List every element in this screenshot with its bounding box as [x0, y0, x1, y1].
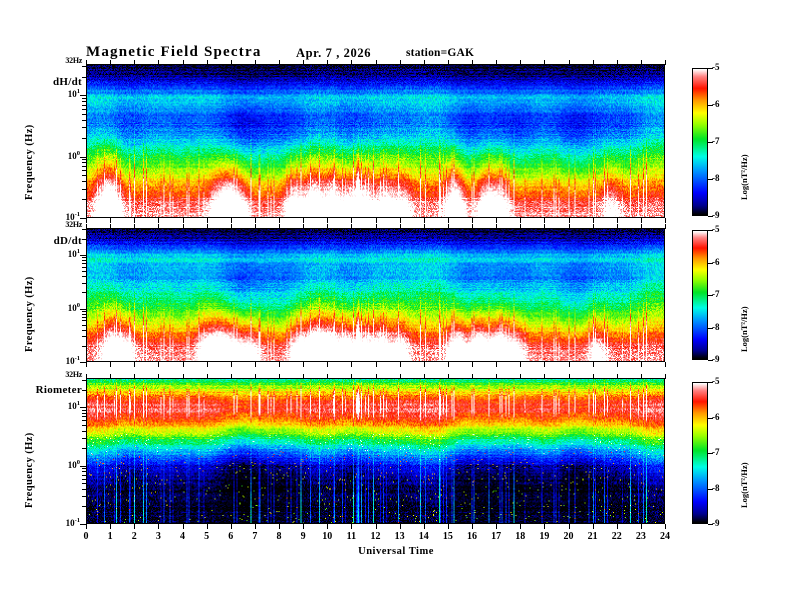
y-tickmark-minor — [82, 138, 86, 139]
panel-riometer — [86, 378, 665, 524]
x-tick-23: 23 — [629, 531, 653, 542]
x-tickmark-top — [279, 374, 280, 379]
y-tickmark-major — [80, 309, 86, 310]
x-tickmark-top — [376, 60, 377, 65]
x-tickmark — [207, 524, 208, 529]
colorbar-tickmark — [708, 142, 713, 143]
x-tickmark-top — [183, 224, 184, 229]
y-tickmark-minor — [82, 105, 86, 106]
colorbar-tickmark — [708, 524, 713, 525]
page-title: Magnetic Field Spectra — [86, 44, 262, 61]
x-tickmark — [472, 362, 473, 367]
x-tickmark — [279, 362, 280, 367]
x-tickmark — [617, 362, 618, 367]
x-tick-2: 2 — [122, 531, 146, 542]
x-tick-5: 5 — [195, 531, 219, 542]
x-tickmark-top — [327, 374, 328, 379]
colorbar-panel1 — [692, 68, 708, 216]
y-tick-panel2-1e-1: 10-1 — [46, 355, 80, 366]
y-tickmark-minor — [82, 267, 86, 268]
colorbar-tick-2-neg8: -8 — [712, 483, 720, 493]
y-tickmark-minor — [82, 325, 86, 326]
colorbar-tick-0-neg6: -6 — [712, 99, 720, 109]
x-tickmark — [255, 218, 256, 223]
x-tick-11: 11 — [339, 531, 363, 542]
figure-root: Magnetic Field Spectra Apr. 7 , 2026 sta… — [0, 0, 792, 612]
x-tickmark-top — [303, 60, 304, 65]
y-tickmark-minor — [82, 276, 86, 277]
colorbar-tickmark — [708, 68, 713, 69]
x-tickmark — [617, 524, 618, 529]
y-tickmark-minor — [82, 159, 86, 160]
x-tickmark — [158, 362, 159, 367]
x-tickmark-top — [183, 60, 184, 65]
y-tickmark-minor — [82, 162, 86, 163]
x-tickmark-top — [400, 224, 401, 229]
y-tick-panel3-1e-1: 10-1 — [46, 517, 80, 528]
colorbar-tickmark — [708, 179, 713, 180]
colorbar-tick-1-neg8: -8 — [712, 322, 720, 332]
panel-dddt — [86, 228, 665, 362]
x-tickmark-top — [86, 374, 87, 379]
x-tickmark-top — [617, 374, 618, 379]
x-tickmark — [327, 524, 328, 529]
x-tickmark — [641, 218, 642, 223]
y-tickmark-minor — [82, 483, 86, 484]
colorbar-tickmark — [708, 263, 713, 264]
x-tick-12: 12 — [364, 531, 388, 542]
x-tickmark — [279, 218, 280, 223]
x-tickmark — [376, 218, 377, 223]
x-tickmark-top — [255, 374, 256, 379]
x-tick-24: 24 — [653, 531, 677, 542]
panel-label-riometer: Riometer — [24, 384, 82, 396]
x-tickmark — [544, 218, 545, 223]
x-tickmark-top — [544, 374, 545, 379]
y-tickmark-minor — [82, 260, 86, 261]
x-tick-4: 4 — [171, 531, 195, 542]
colorbar-tickmark — [708, 489, 713, 490]
x-tickmark-top — [424, 60, 425, 65]
colorbar-tickmark — [708, 382, 713, 383]
x-tickmark — [207, 218, 208, 223]
x-tickmark-top — [231, 374, 232, 379]
x-tickmark-top — [400, 60, 401, 65]
x-tickmark-top — [472, 374, 473, 379]
x-tickmark-top — [134, 224, 135, 229]
y-tickmark-minor — [82, 311, 86, 312]
x-tickmark — [593, 524, 594, 529]
y-tickmark-minor — [82, 330, 86, 331]
spectrogram-dddt — [87, 229, 664, 361]
y-tickmark-minor — [82, 320, 86, 321]
y-tickmark-minor — [82, 448, 86, 449]
x-tick-21: 21 — [581, 531, 605, 542]
x-tickmark — [255, 362, 256, 367]
x-tickmark-top — [231, 60, 232, 65]
x-tickmark-top — [400, 374, 401, 379]
x-tickmark-top — [520, 60, 521, 65]
x-tickmark-top — [255, 60, 256, 65]
x-tickmark — [448, 218, 449, 223]
y-tick-panel3-1e0: 100 — [46, 459, 80, 470]
x-tickmark-top — [593, 60, 594, 65]
colorbar-tick-2-neg9: -9 — [712, 518, 720, 528]
x-tickmark — [496, 524, 497, 529]
x-tickmark-top — [496, 374, 497, 379]
x-tickmark — [110, 218, 111, 223]
panel-label-dddt: dD/dt — [36, 235, 82, 247]
x-tick-14: 14 — [412, 531, 436, 542]
x-tickmark-top — [158, 224, 159, 229]
x-tickmark — [327, 362, 328, 367]
y-tickmark-minor — [82, 479, 86, 480]
x-tickmark-top — [279, 224, 280, 229]
nyquist-label-panel1: 32Hz — [46, 56, 82, 65]
colorbar-tick-2-neg7: -7 — [712, 447, 720, 457]
x-tickmark-top — [351, 60, 352, 65]
x-tickmark-top — [183, 374, 184, 379]
y-tick-panel2-1e1: 101 — [46, 248, 80, 259]
y-tickmark-minor — [82, 101, 86, 102]
y-tickmark-minor — [82, 271, 86, 272]
spectrogram-riometer — [87, 379, 664, 523]
colorbar-tick-0-neg8: -8 — [712, 173, 720, 183]
colorbar-tick-0-neg5: -5 — [712, 62, 720, 72]
x-tickmark-top — [641, 60, 642, 65]
x-tick-16: 16 — [460, 531, 484, 542]
x-tickmark-top — [255, 224, 256, 229]
y-tickmark-minor — [82, 438, 86, 439]
y-tickmark-minor — [82, 496, 86, 497]
y-tickmark-minor — [82, 475, 86, 476]
colorbar-label-panel3: Log(nT²/Hz) — [739, 462, 749, 508]
x-tickmark — [134, 218, 135, 223]
x-tickmark-top — [520, 374, 521, 379]
y-tickmark-major — [80, 95, 86, 96]
x-tickmark-top — [134, 60, 135, 65]
x-tickmark-top — [110, 224, 111, 229]
x-tickmark — [520, 362, 521, 367]
x-tick-3: 3 — [146, 531, 170, 542]
x-tickmark-top — [158, 374, 159, 379]
y-tickmark-minor — [82, 66, 86, 67]
y-tickmark-minor — [82, 489, 86, 490]
x-tickmark — [110, 524, 111, 529]
y-tickmark-minor — [82, 317, 86, 318]
y-tickmark-major — [80, 466, 86, 467]
x-tickmark — [231, 362, 232, 367]
y-tickmark-minor — [82, 77, 86, 78]
x-tickmark — [255, 524, 256, 529]
x-tick-9: 9 — [291, 531, 315, 542]
colorbar-tickmark — [708, 453, 713, 454]
x-tickmark — [593, 362, 594, 367]
x-tickmark-top — [327, 60, 328, 65]
y-tickmark-minor — [82, 263, 86, 264]
y-tickmark-major — [80, 407, 86, 408]
y-tickmark-major — [80, 157, 86, 158]
colorbar-tick-2-neg5: -5 — [712, 376, 720, 386]
colorbar-label-panel3-bar — [692, 382, 708, 524]
colorbar-label-panel1: Log(nT²/Hz) — [739, 154, 749, 200]
observation-date: Apr. 7 , 2026 — [296, 46, 371, 61]
panel-label-dhdt: dH/dt — [36, 76, 82, 88]
x-tickmark — [134, 524, 135, 529]
x-tickmark-top — [424, 374, 425, 379]
x-tickmark — [617, 218, 618, 223]
x-tickmark-top — [448, 374, 449, 379]
y-tickmark-minor — [82, 416, 86, 417]
x-tickmark-top — [303, 224, 304, 229]
x-tickmark-top — [569, 224, 570, 229]
x-tick-0: 0 — [74, 531, 98, 542]
x-tickmark-top — [520, 224, 521, 229]
y-tickmark-minor — [82, 229, 86, 230]
nyquist-label-panel3: 32Hz — [46, 370, 82, 379]
x-tickmark — [665, 524, 666, 529]
x-tickmark — [231, 218, 232, 223]
colorbar-tick-1-neg6: -6 — [712, 257, 720, 267]
panel-dhdt — [86, 64, 665, 218]
x-tickmark — [351, 218, 352, 223]
x-tickmark — [496, 362, 497, 367]
x-tickmark — [279, 524, 280, 529]
y-tickmark-minor — [82, 431, 86, 432]
y-tickmark-major — [80, 255, 86, 256]
x-tickmark-top — [303, 374, 304, 379]
colorbar-tickmark — [708, 418, 713, 419]
x-tickmark-top — [86, 60, 87, 65]
x-tickmark-top — [641, 374, 642, 379]
x-tickmark-top — [544, 224, 545, 229]
x-tickmark-top — [351, 224, 352, 229]
y-tickmark-minor — [82, 127, 86, 128]
y-tickmark-minor — [82, 199, 86, 200]
y-tickmark-minor — [82, 257, 86, 258]
x-tickmark — [472, 218, 473, 223]
x-tickmark-top — [665, 374, 666, 379]
colorbar-tick-2-neg6: -6 — [712, 412, 720, 422]
x-tickmark — [183, 524, 184, 529]
x-tickmark-top — [376, 374, 377, 379]
x-tickmark-top — [279, 60, 280, 65]
y-tickmark-minor — [82, 189, 86, 190]
y-tickmark-minor — [82, 468, 86, 469]
x-tickmark — [134, 362, 135, 367]
x-tickmark-top — [496, 60, 497, 65]
colorbar-tickmark — [708, 230, 713, 231]
colorbar-tickmark — [708, 216, 713, 217]
x-tickmark — [424, 218, 425, 223]
x-tickmark-top — [448, 60, 449, 65]
y-tickmark-minor — [82, 98, 86, 99]
x-tickmark-top — [327, 224, 328, 229]
x-tick-1: 1 — [98, 531, 122, 542]
x-tickmark — [376, 524, 377, 529]
x-tick-17: 17 — [484, 531, 508, 542]
colorbar-tick-1-neg9: -9 — [712, 354, 720, 364]
x-tick-22: 22 — [605, 531, 629, 542]
x-tickmark — [86, 218, 87, 223]
x-tickmark — [520, 524, 521, 529]
y-tickmark-minor — [82, 346, 86, 347]
x-tickmark — [183, 362, 184, 367]
colorbar-tickmark — [708, 295, 713, 296]
x-tickmark-top — [86, 224, 87, 229]
y-tickmark-minor — [82, 413, 86, 414]
y-tick-panel1-1e-1: 10-1 — [46, 211, 80, 222]
x-tickmark — [303, 524, 304, 529]
x-tickmark — [424, 524, 425, 529]
x-tickmark-top — [231, 224, 232, 229]
x-tickmark — [544, 524, 545, 529]
x-tickmark-top — [472, 224, 473, 229]
colorbar-label-panel2: Log(nT²/Hz) — [739, 306, 749, 352]
x-tickmark — [231, 524, 232, 529]
x-tickmark — [520, 218, 521, 223]
y-tick-panel1-1e1: 101 — [46, 88, 80, 99]
y-tick-panel1-1e0: 100 — [46, 150, 80, 161]
x-tickmark-top — [617, 60, 618, 65]
y-axis-label-panel3: Frequency (Hz) — [24, 432, 35, 508]
x-tickmark — [158, 524, 159, 529]
x-tick-13: 13 — [388, 531, 412, 542]
x-tickmark — [303, 362, 304, 367]
y-tickmark-minor — [82, 170, 86, 171]
x-tickmark-top — [424, 224, 425, 229]
x-tickmark — [376, 362, 377, 367]
x-axis-label: Universal Time — [0, 546, 792, 557]
x-tickmark-top — [665, 224, 666, 229]
colorbar-tick-0-neg9: -9 — [712, 210, 720, 220]
x-tickmark — [183, 218, 184, 223]
x-tick-18: 18 — [508, 531, 532, 542]
y-tickmark-minor — [82, 175, 86, 176]
x-tickmark-top — [569, 60, 570, 65]
x-tickmark — [351, 524, 352, 529]
x-tickmark — [303, 218, 304, 223]
y-tickmark-minor — [82, 390, 86, 391]
x-tickmark — [665, 218, 666, 223]
x-tickmark-top — [472, 60, 473, 65]
y-tickmark-minor — [82, 181, 86, 182]
y-tickmark-minor — [82, 506, 86, 507]
y-tickmark-minor — [82, 166, 86, 167]
y-tickmark-minor — [82, 239, 86, 240]
x-tick-20: 20 — [557, 531, 581, 542]
x-tickmark — [400, 524, 401, 529]
x-tickmark-top — [110, 374, 111, 379]
y-tickmark-minor — [82, 425, 86, 426]
colorbar-tick-1-neg7: -7 — [712, 289, 720, 299]
colorbar-tickmark — [708, 360, 713, 361]
y-tick-panel3-1e1: 101 — [46, 400, 80, 411]
x-tickmark-top — [617, 224, 618, 229]
y-tickmark-minor — [82, 420, 86, 421]
x-tickmark — [569, 524, 570, 529]
x-tickmark-top — [593, 224, 594, 229]
y-tickmark-minor — [82, 120, 86, 121]
x-tickmark — [593, 218, 594, 223]
x-tickmark — [158, 218, 159, 223]
y-tickmark-minor — [82, 292, 86, 293]
x-tick-7: 7 — [243, 531, 267, 542]
x-tick-6: 6 — [219, 531, 243, 542]
x-tickmark-top — [665, 60, 666, 65]
x-tickmark-top — [593, 374, 594, 379]
x-tickmark-top — [569, 374, 570, 379]
x-tickmark — [86, 362, 87, 367]
x-tickmark — [400, 218, 401, 223]
x-tickmark-top — [110, 60, 111, 65]
x-tick-8: 8 — [267, 531, 291, 542]
y-tickmark-minor — [82, 114, 86, 115]
spectrogram-dhdt — [87, 65, 664, 217]
y-tickmark-minor — [82, 471, 86, 472]
y-axis-label-panel1: Frequency (Hz) — [24, 124, 35, 200]
x-tickmark-top — [134, 374, 135, 379]
x-tickmark — [641, 524, 642, 529]
colorbar-tick-1-neg5: -5 — [712, 224, 720, 234]
x-tickmark — [351, 362, 352, 367]
x-tickmark-top — [544, 60, 545, 65]
x-tickmark — [544, 362, 545, 367]
x-tick-19: 19 — [532, 531, 556, 542]
x-tickmark — [327, 218, 328, 223]
x-tickmark — [472, 524, 473, 529]
x-tick-10: 10 — [315, 531, 339, 542]
x-tickmark — [400, 362, 401, 367]
x-tick-15: 15 — [436, 531, 460, 542]
x-tickmark — [207, 362, 208, 367]
y-tickmark-minor — [82, 283, 86, 284]
y-tickmark-minor — [82, 380, 86, 381]
y-tickmark-minor — [82, 336, 86, 337]
x-tickmark-top — [158, 60, 159, 65]
x-tickmark-top — [641, 224, 642, 229]
colorbar-tickmark — [708, 328, 713, 329]
x-tickmark-top — [207, 374, 208, 379]
colorbar-panel2 — [692, 230, 708, 360]
station-label: station=GAK — [406, 47, 474, 59]
x-tickmark-top — [496, 224, 497, 229]
x-tickmark — [110, 362, 111, 367]
y-tickmark-minor — [82, 314, 86, 315]
x-tickmark — [569, 218, 570, 223]
x-tickmark — [496, 218, 497, 223]
x-tickmark — [569, 362, 570, 367]
colorbar-tick-0-neg7: -7 — [712, 136, 720, 146]
x-tickmark — [448, 362, 449, 367]
x-tickmark — [424, 362, 425, 367]
x-tickmark — [641, 362, 642, 367]
y-tickmark-minor — [82, 410, 86, 411]
x-tickmark-top — [351, 374, 352, 379]
x-tickmark — [86, 524, 87, 529]
y-axis-label-panel2: Frequency (Hz) — [24, 276, 35, 352]
x-tickmark-top — [376, 224, 377, 229]
x-tickmark — [448, 524, 449, 529]
x-tickmark-top — [207, 224, 208, 229]
y-tick-panel2-1e0: 100 — [46, 302, 80, 313]
y-tickmark-minor — [82, 109, 86, 110]
x-tickmark — [665, 362, 666, 367]
x-tickmark-top — [448, 224, 449, 229]
colorbar-tickmark — [708, 105, 713, 106]
x-tickmark-top — [207, 60, 208, 65]
